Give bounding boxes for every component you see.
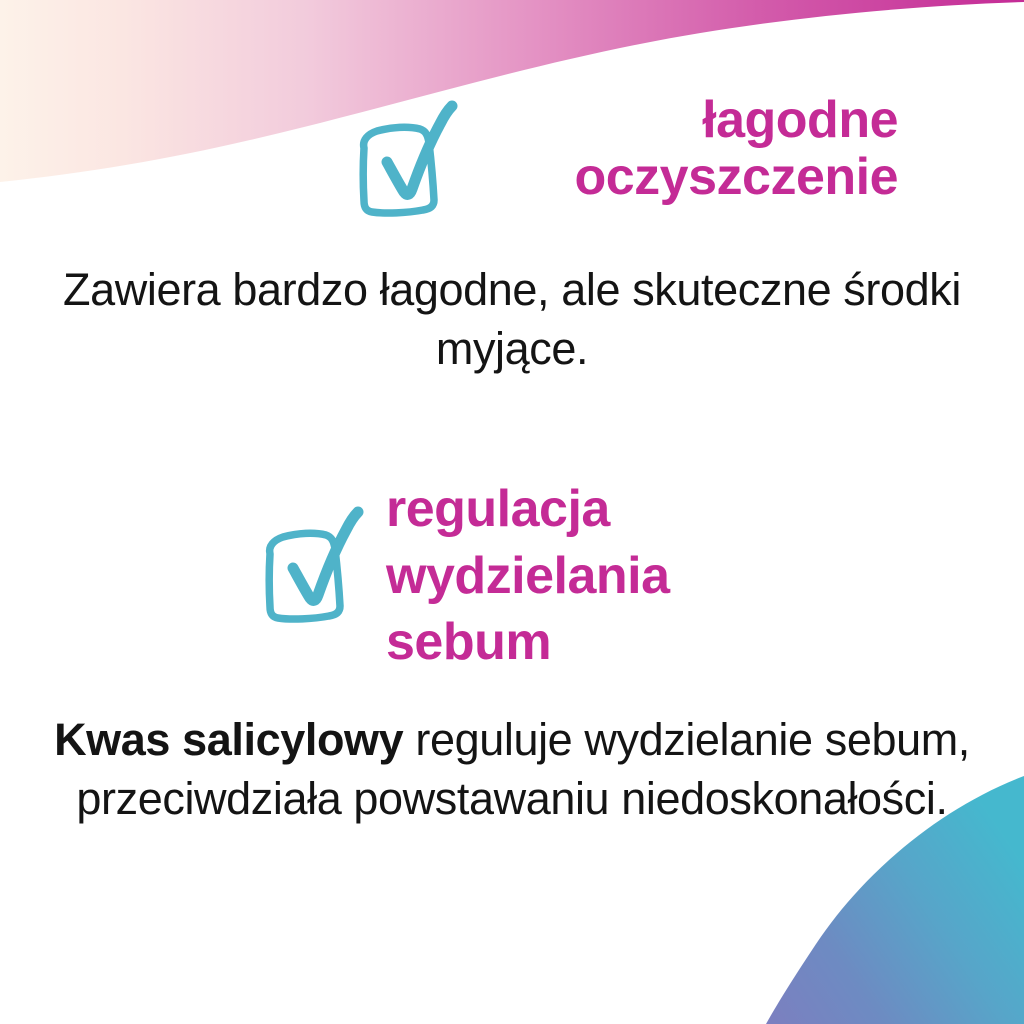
feature-2-body: Kwas salicylowy reguluje wydzielanie seb… <box>42 710 982 829</box>
checkbox-check-icon <box>258 490 366 630</box>
feature-2-head: regulacja wydzielania sebum <box>0 490 1024 676</box>
feature-1-heading-line-1: łagodne <box>702 91 898 149</box>
feature-1-heading-line-2: oczyszczenie <box>575 148 899 206</box>
feature-1-body: Zawiera bardzo łagodne, ale skuteczne śr… <box>42 260 982 379</box>
feature-1-body-text: Zawiera bardzo łagodne, ale skuteczne śr… <box>63 264 961 374</box>
feature-2-heading-line-3: sebum <box>386 613 551 671</box>
feature-block-2: regulacja wydzielania sebum Kwas salicyl… <box>0 490 1024 828</box>
promo-card: łagodne oczyszczenie Zawiera bardzo łago… <box>0 0 1024 1024</box>
content-area: łagodne oczyszczenie Zawiera bardzo łago… <box>0 0 1024 1024</box>
feature-2-heading-line-2: wydzielania <box>386 547 670 605</box>
feature-2-heading-line-1: regulacja <box>386 480 610 538</box>
feature-2-body-emphasis: Kwas salicylowy <box>54 714 403 765</box>
checkbox-check-icon <box>352 96 460 224</box>
feature-2-heading: regulacja wydzielania sebum <box>386 476 806 676</box>
feature-1-heading: łagodne oczyszczenie <box>480 92 898 205</box>
feature-1-head: łagodne oczyszczenie <box>0 96 1024 224</box>
feature-block-1: łagodne oczyszczenie Zawiera bardzo łago… <box>0 96 1024 379</box>
